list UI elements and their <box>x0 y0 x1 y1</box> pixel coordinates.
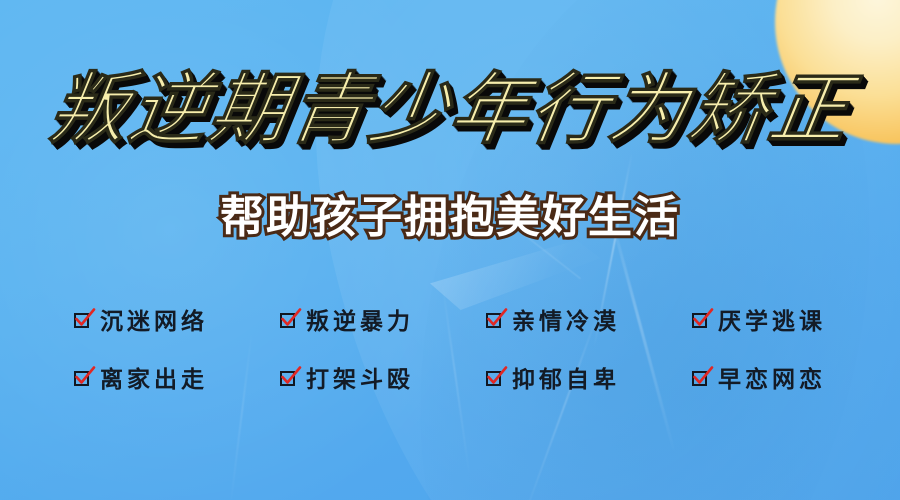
checklist-item[interactable]: 早恋网恋 <box>692 368 826 391</box>
banner-title: 叛逆期青少年行为矫正 <box>0 70 900 148</box>
checklist-row-1: 沉迷网络 叛逆暴力 亲情冷漠 <box>74 292 826 350</box>
checklist-item[interactable]: 沉迷网络 <box>74 310 208 333</box>
checkbox-checked-icon[interactable] <box>280 312 299 331</box>
checkbox-checked-icon[interactable] <box>74 370 93 389</box>
checklist-item-label: 早恋网恋 <box>718 368 826 391</box>
checklist-item[interactable]: 抑郁自卑 <box>486 368 620 391</box>
checklist-item-label: 离家出走 <box>100 368 208 391</box>
checklist-item-label: 叛逆暴力 <box>306 310 414 333</box>
checkbox-checked-icon[interactable] <box>486 312 505 331</box>
checklist-item-label: 抑郁自卑 <box>512 368 620 391</box>
banner-content: 叛逆期青少年行为矫正 帮助孩子拥抱美好生活 沉迷网络 叛逆暴力 <box>0 0 900 500</box>
issue-checklist: 沉迷网络 叛逆暴力 亲情冷漠 <box>74 292 826 408</box>
checklist-row-2: 离家出走 打架斗殴 抑郁自卑 <box>74 350 826 408</box>
checkbox-checked-icon[interactable] <box>486 370 505 389</box>
checklist-item[interactable]: 离家出走 <box>74 368 208 391</box>
checkbox-checked-icon[interactable] <box>74 312 93 331</box>
checklist-item-label: 厌学逃课 <box>718 310 826 333</box>
checklist-item[interactable]: 厌学逃课 <box>692 310 826 333</box>
checklist-item[interactable]: 打架斗殴 <box>280 368 414 391</box>
checklist-item[interactable]: 叛逆暴力 <box>280 310 414 333</box>
checklist-item-label: 打架斗殴 <box>306 368 414 391</box>
checkbox-checked-icon[interactable] <box>692 370 711 389</box>
checklist-item-label: 亲情冷漠 <box>512 310 620 333</box>
checklist-item[interactable]: 亲情冷漠 <box>486 310 620 333</box>
banner-subtitle: 帮助孩子拥抱美好生活 <box>0 196 900 240</box>
checkbox-checked-icon[interactable] <box>280 370 299 389</box>
checklist-item-label: 沉迷网络 <box>100 310 208 333</box>
checkbox-checked-icon[interactable] <box>692 312 711 331</box>
promo-banner: 叛逆期青少年行为矫正 帮助孩子拥抱美好生活 沉迷网络 叛逆暴力 <box>0 0 900 500</box>
